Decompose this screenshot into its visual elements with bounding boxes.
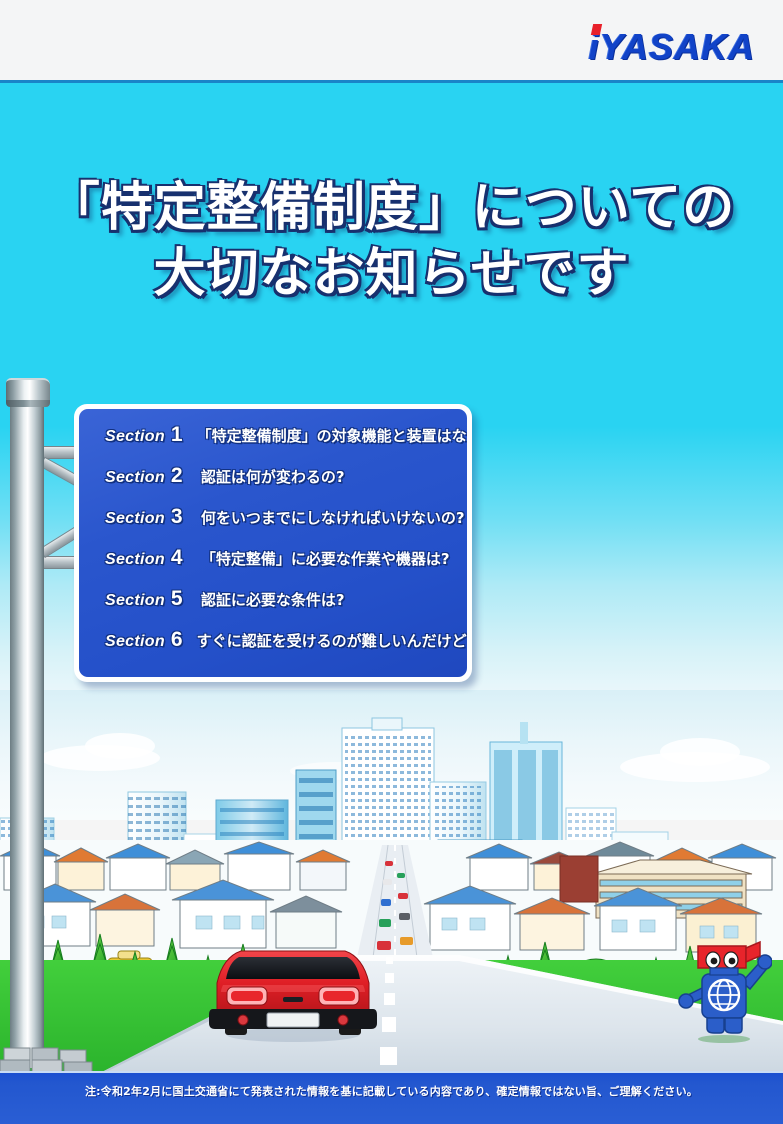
section-label-6: Section: [105, 633, 165, 651]
title-line-2: 大切なお知らせです: [0, 241, 783, 307]
section-text-6: すぐに認証を受けるのが難しいんだけど・・・: [197, 630, 467, 651]
section-row-2[interactable]: Section 2 認証は何が変わるの?: [79, 464, 467, 505]
logo-text: iYASAKA: [589, 26, 755, 67]
section-row-3[interactable]: Section 3 何をいつまでにしなければいけないの?: [79, 505, 467, 546]
section-label-4: Section: [105, 551, 165, 569]
section-row-4[interactable]: Section 4 「特定整備」に必要な作業や機器は?: [79, 546, 467, 587]
section-number-2: 2: [171, 464, 187, 488]
section-text-1: 「特定整備制度」の対象機能と装置はなに?: [197, 425, 467, 446]
section-label-1: Section: [105, 428, 165, 446]
title-line-1: 「特定整備制度」についての: [0, 175, 783, 241]
poster-root: Section 1 「特定整備制度」の対象機能と装置はなに? Section 2…: [0, 0, 783, 1124]
section-label-2: Section: [105, 469, 165, 487]
hero-car: [205, 925, 380, 1045]
section-number-3: 3: [171, 505, 187, 529]
section-number-1: 1: [171, 423, 183, 447]
section-row-1[interactable]: Section 1 「特定整備制度」の対象機能と装置はなに?: [79, 423, 467, 464]
section-row-5[interactable]: Section 5 認証に必要な条件は?: [79, 587, 467, 628]
header-divider: [0, 80, 783, 83]
poster-title: 「特定整備制度」についての 大切なお知らせです: [0, 175, 783, 307]
footer-note: 注:令和2年2月に国土交通省にて発表された情報を基に記載している内容であり、確定…: [0, 1083, 783, 1099]
section-text-5: 認証に必要な条件は?: [201, 589, 345, 610]
section-text-2: 認証は何が変わるの?: [201, 466, 345, 487]
logo-accent-mark: [590, 24, 601, 35]
information-sign-board[interactable]: Section 1 「特定整備制度」の対象機能と装置はなに? Section 2…: [74, 404, 472, 682]
section-label-5: Section: [105, 592, 165, 610]
section-number-6: 6: [171, 628, 183, 652]
section-number-5: 5: [171, 587, 187, 611]
mascot-character: [676, 932, 772, 1044]
sign-board-face: Section 1 「特定整備制度」の対象機能と装置はなに? Section 2…: [79, 409, 467, 677]
section-label-3: Section: [105, 510, 165, 528]
section-list: Section 1 「特定整備制度」の対象機能と装置はなに? Section 2…: [79, 423, 467, 669]
section-row-6[interactable]: Section 6 すぐに認証を受けるのが難しいんだけど・・・: [79, 628, 467, 669]
sign-post-pole: [10, 378, 44, 1068]
section-number-4: 4: [171, 546, 187, 570]
section-text-3: 何をいつまでにしなければいけないの?: [201, 507, 465, 528]
section-text-4: 「特定整備」に必要な作業や機器は?: [201, 548, 450, 569]
sign-post-cap-shadow: [6, 400, 50, 407]
footer-bar: 注:令和2年2月に国土交通省にて発表された情報を基に記載している内容であり、確定…: [0, 1071, 783, 1124]
brand-logo[interactable]: iYASAKA: [589, 26, 755, 68]
